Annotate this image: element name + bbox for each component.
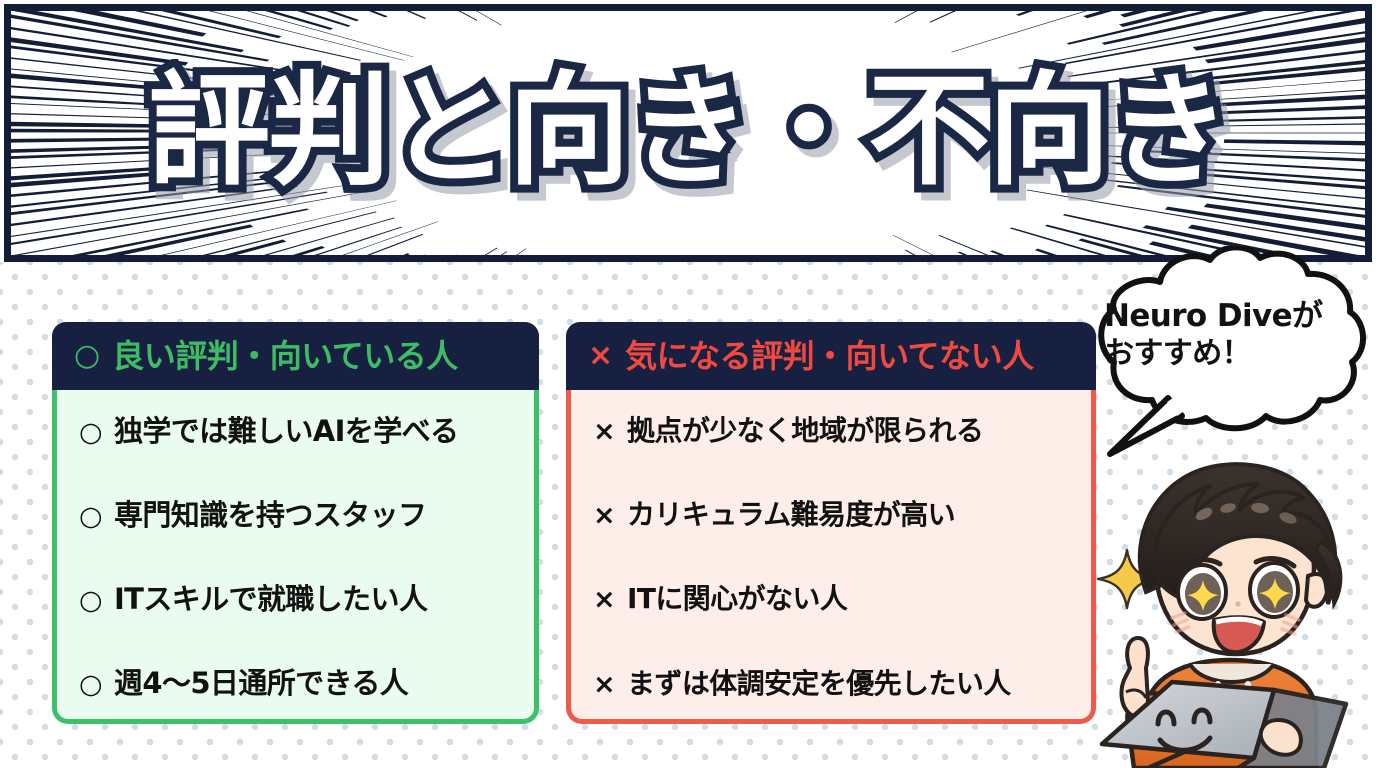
title-panel: 評判と向き・不向き: [4, 4, 1372, 262]
cross-mark-icon: ×: [593, 671, 615, 699]
list-item-label: 拠点が少なく地域が限られる: [627, 416, 983, 445]
circle-mark-icon: ○: [79, 503, 102, 531]
list-item-label: カリキュラム難易度が高い: [627, 500, 955, 529]
list-item-label: ITスキルで就職したい人: [114, 584, 427, 614]
list-item-label: まずは体調安定を優先したい人: [627, 669, 1011, 698]
list-item: ○ 週4〜5日通所できる人: [79, 668, 514, 699]
list-item-label: 専門知識を持つスタッフ: [114, 500, 426, 530]
card-bad-reputation: × 気になる評判・向いてない人 × 拠点が少なく地域が限られる × カリキュラム…: [566, 322, 1096, 724]
cross-mark-icon: ×: [593, 502, 615, 530]
card-good-reputation: ○ 良い評判・向いている人 ○ 独学では難しいAIを学べる ○ 専門知識を持つス…: [52, 322, 539, 724]
speech-bubble: Neuro Diveが おすすめ！: [1064, 246, 1370, 458]
infographic-stage: 評判と向き・不向き ○ 良い評判・向いている人 ○ 独学では難しいAIを学べる …: [0, 0, 1376, 768]
character-head: [1140, 464, 1341, 654]
list-item-label: 独学では難しいAIを学べる: [114, 416, 458, 446]
page-title: 評判と向き・不向き: [148, 70, 1228, 192]
circle-mark-icon: ○: [79, 419, 102, 447]
title-text-wrap: 評判と向き・不向き: [11, 11, 1365, 255]
speech-bubble-text: Neuro Diveが おすすめ！: [1104, 298, 1340, 372]
card-good-body: ○ 独学では難しいAIを学べる ○ 専門知識を持つスタッフ ○ ITスキルで就職…: [52, 390, 539, 724]
card-good-header-label: 良い評判・向いている人: [112, 340, 458, 372]
list-item: ○ 独学では難しいAIを学べる: [79, 416, 514, 447]
cross-mark-icon: ×: [588, 341, 613, 371]
list-item: × カリキュラム難易度が高い: [593, 500, 1071, 530]
circle-mark-icon: ○: [79, 671, 102, 699]
cross-mark-icon: ×: [593, 418, 615, 446]
cross-mark-icon: ×: [593, 586, 615, 614]
speech-bubble-line-2: おすすめ！: [1104, 336, 1340, 373]
card-bad-header: × 気になる評判・向いてない人: [566, 322, 1096, 390]
card-bad-header-label: 気になる評判・向いてない人: [625, 340, 1034, 372]
list-item: ○ 専門知識を持つスタッフ: [79, 500, 514, 531]
character-eye-left: [1178, 565, 1226, 619]
list-item: × ITに関心がない人: [593, 584, 1071, 614]
list-item-label: 週4〜5日通所できる人: [114, 668, 408, 698]
circle-mark-icon: ○: [79, 587, 102, 615]
character-eye-right: [1250, 563, 1298, 617]
list-item: ○ ITスキルで就職したい人: [79, 584, 514, 615]
speech-bubble-line-1: Neuro Diveが: [1104, 298, 1340, 336]
character-illustration: [1088, 452, 1376, 768]
card-good-header: ○ 良い評判・向いている人: [52, 322, 539, 390]
character-holding-hand: [1261, 720, 1301, 755]
list-item-label: ITに関心がない人: [627, 584, 847, 613]
list-item: × 拠点が少なく地域が限られる: [593, 416, 1071, 446]
list-item: × まずは体調安定を優先したい人: [593, 669, 1071, 699]
card-bad-body: × 拠点が少なく地域が限られる × カリキュラム難易度が高い × ITに関心がな…: [566, 390, 1096, 724]
circle-mark-icon: ○: [74, 341, 100, 371]
